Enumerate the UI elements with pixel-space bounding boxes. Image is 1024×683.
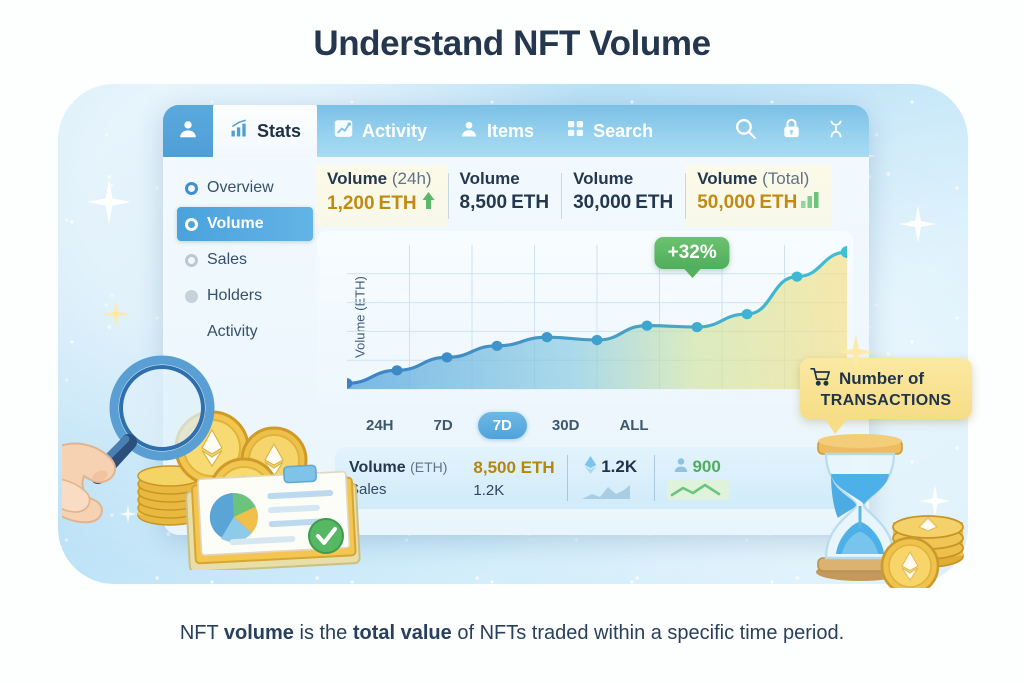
illustration-magnifier-coins-clipboard bbox=[62, 330, 382, 575]
tab-search-label: Search bbox=[593, 121, 653, 142]
stat-value: 1,200 ETH bbox=[327, 192, 436, 215]
stat-unit: ETH bbox=[759, 192, 797, 214]
line-chart-icon bbox=[333, 118, 354, 144]
tab-items[interactable]: Items bbox=[443, 105, 550, 157]
stat-qualifier: (24h) bbox=[392, 169, 432, 188]
eth-diamond-icon bbox=[584, 456, 597, 479]
content-area: Volume (24h) 1,200 ETH bbox=[313, 157, 869, 535]
tab-stats-label: Stats bbox=[257, 121, 301, 142]
sparkline-blue bbox=[580, 481, 642, 501]
metric-value-row: 900 bbox=[674, 457, 720, 478]
grid-icon bbox=[566, 119, 585, 143]
stat-unit: ETH bbox=[511, 192, 549, 214]
summary-label-qualifier: (ETH) bbox=[410, 459, 447, 475]
stat-label: Volume (Total) bbox=[697, 169, 819, 189]
stat-card-volume-2[interactable]: Volume 8,500 ETH bbox=[448, 165, 562, 227]
profile-avatar-button[interactable] bbox=[163, 105, 213, 157]
chart-point[interactable] bbox=[392, 365, 403, 375]
range-option-7d-selected[interactable]: 7D bbox=[478, 412, 527, 439]
radio-icon bbox=[185, 254, 198, 267]
time-range-selector: 24H 7D 7D 30D ALL bbox=[315, 403, 857, 439]
clipboard-icon bbox=[186, 465, 360, 570]
stat-value: 30,000 ETH bbox=[573, 192, 673, 214]
stat-value: 50,000 ETH bbox=[697, 192, 819, 214]
caption-bold-volume: volume bbox=[224, 622, 294, 644]
transactions-callout: Number of TRANSACTIONS bbox=[800, 358, 972, 419]
shopping-cart-icon bbox=[810, 367, 832, 391]
stat-number: 50,000 bbox=[697, 192, 755, 214]
bar-chart-icon bbox=[229, 119, 249, 144]
lock-icon[interactable] bbox=[780, 117, 803, 145]
chart-plot-area bbox=[347, 237, 847, 395]
stat-strip: Volume (24h) 1,200 ETH bbox=[315, 165, 857, 227]
tab-stats[interactable]: Stats bbox=[213, 105, 317, 157]
range-option-30d[interactable]: 30D bbox=[537, 412, 595, 439]
divider bbox=[654, 455, 655, 501]
hourglass-icon[interactable] bbox=[825, 118, 847, 145]
metric-transactions[interactable]: 1.2K bbox=[580, 456, 642, 501]
sparkle-icon bbox=[86, 179, 132, 225]
tab-items-label: Items bbox=[487, 121, 534, 142]
radio-icon bbox=[185, 290, 198, 303]
caption-part: NFT bbox=[180, 622, 224, 644]
person-icon bbox=[177, 118, 199, 145]
stat-card-volume-total[interactable]: Volume (Total) 50,000 ETH bbox=[685, 165, 831, 227]
stat-unit: ETH bbox=[635, 192, 673, 214]
stat-number: 1,200 bbox=[327, 193, 375, 215]
chart-point[interactable] bbox=[442, 352, 453, 362]
stat-label-text: Volume bbox=[327, 169, 387, 188]
range-option-7d[interactable]: 7D bbox=[419, 412, 468, 439]
stat-label-text: Volume bbox=[573, 169, 633, 188]
tab-bar-trailing-icons bbox=[733, 105, 869, 157]
volume-chart[interactable]: Volume (ETH) bbox=[317, 231, 853, 403]
radio-icon bbox=[185, 182, 198, 195]
sidebar-item-sales[interactable]: Sales bbox=[177, 243, 313, 277]
up-arrow-icon bbox=[421, 192, 436, 215]
summary-bar: Volume (ETH) Sales 8,500 ETH 1.2K bbox=[335, 447, 853, 509]
tab-search[interactable]: Search bbox=[550, 105, 669, 157]
bars-icon bbox=[801, 192, 819, 214]
tab-activity[interactable]: Activity bbox=[317, 105, 443, 157]
sidebar-item-holders[interactable]: Holders bbox=[177, 279, 313, 313]
page-title: Understand NFT Volume bbox=[0, 24, 1024, 64]
divider bbox=[567, 455, 568, 501]
stat-label-text: Volume bbox=[460, 169, 520, 188]
sidebar-item-overview[interactable]: Overview bbox=[177, 171, 313, 205]
tab-activity-label: Activity bbox=[362, 121, 427, 142]
sidebar-item-volume[interactable]: Volume bbox=[177, 207, 313, 241]
screenshot-root: Understand NFT Volume bbox=[0, 0, 1024, 683]
summary-value: 8,500 ETH bbox=[473, 458, 554, 478]
person-icon bbox=[459, 119, 479, 144]
sidebar-item-label: Volume bbox=[207, 215, 264, 233]
sparkline-green bbox=[667, 480, 729, 500]
radio-icon bbox=[185, 218, 198, 231]
callout-line-1: Number of bbox=[810, 367, 962, 391]
metric-value: 900 bbox=[692, 457, 720, 477]
chart-point[interactable] bbox=[592, 335, 603, 345]
stat-label-text: Volume bbox=[697, 169, 757, 188]
tab-bar: Stats Activity Items Search bbox=[163, 105, 869, 157]
chart-point[interactable] bbox=[792, 271, 803, 281]
summary-sub-value: 1.2K bbox=[473, 482, 554, 499]
stat-label: Volume bbox=[573, 169, 673, 189]
caption: NFT volume is the total value of NFTs tr… bbox=[0, 622, 1024, 645]
chart-change-badge: +32% bbox=[655, 237, 730, 269]
stat-label: Volume bbox=[460, 169, 550, 189]
person-icon bbox=[674, 457, 688, 478]
chart-point[interactable] bbox=[642, 321, 653, 331]
stat-number: 8,500 bbox=[460, 192, 508, 214]
caption-part: is the bbox=[294, 622, 353, 644]
stat-number: 30,000 bbox=[573, 192, 631, 214]
stat-card-volume-3[interactable]: Volume 30,000 ETH bbox=[561, 165, 685, 227]
summary-values: 8,500 ETH 1.2K bbox=[473, 458, 554, 499]
caption-part: of NFTs traded within a specific time pe… bbox=[452, 622, 844, 644]
stat-value: 8,500 ETH bbox=[460, 192, 550, 214]
range-option-all[interactable]: ALL bbox=[604, 412, 663, 439]
sidebar-item-label: Sales bbox=[207, 251, 247, 269]
stat-card-volume-24h[interactable]: Volume (24h) 1,200 ETH bbox=[315, 165, 448, 227]
sparkle-icon bbox=[101, 299, 131, 329]
sidebar-item-label: Overview bbox=[207, 179, 274, 197]
stat-label: Volume (24h) bbox=[327, 169, 436, 189]
chart-point[interactable] bbox=[542, 332, 553, 342]
sparkle-icon bbox=[898, 204, 938, 244]
sparkle-icon bbox=[836, 332, 876, 377]
callout-line-2-text: TRANSACTIONS bbox=[810, 392, 962, 410]
illustration-hourglass-coins bbox=[798, 430, 988, 593]
sidebar-item-label: Holders bbox=[207, 287, 262, 305]
chart-point[interactable] bbox=[692, 322, 703, 332]
metric-value-row: 1.2K bbox=[584, 456, 637, 479]
hand-icon bbox=[62, 444, 115, 523]
stat-qualifier: (Total) bbox=[762, 169, 809, 188]
metric-value: 1.2K bbox=[601, 457, 637, 477]
metric-holders[interactable]: 900 bbox=[667, 457, 729, 500]
magnifier-icon[interactable] bbox=[733, 116, 758, 146]
chart-svg bbox=[347, 237, 847, 395]
chart-point[interactable] bbox=[742, 309, 753, 319]
caption-bold-total-value: total value bbox=[353, 622, 452, 644]
eth-coin-stack-icon bbox=[882, 516, 963, 588]
chart-point[interactable] bbox=[492, 341, 503, 351]
stat-unit: ETH bbox=[379, 193, 417, 215]
